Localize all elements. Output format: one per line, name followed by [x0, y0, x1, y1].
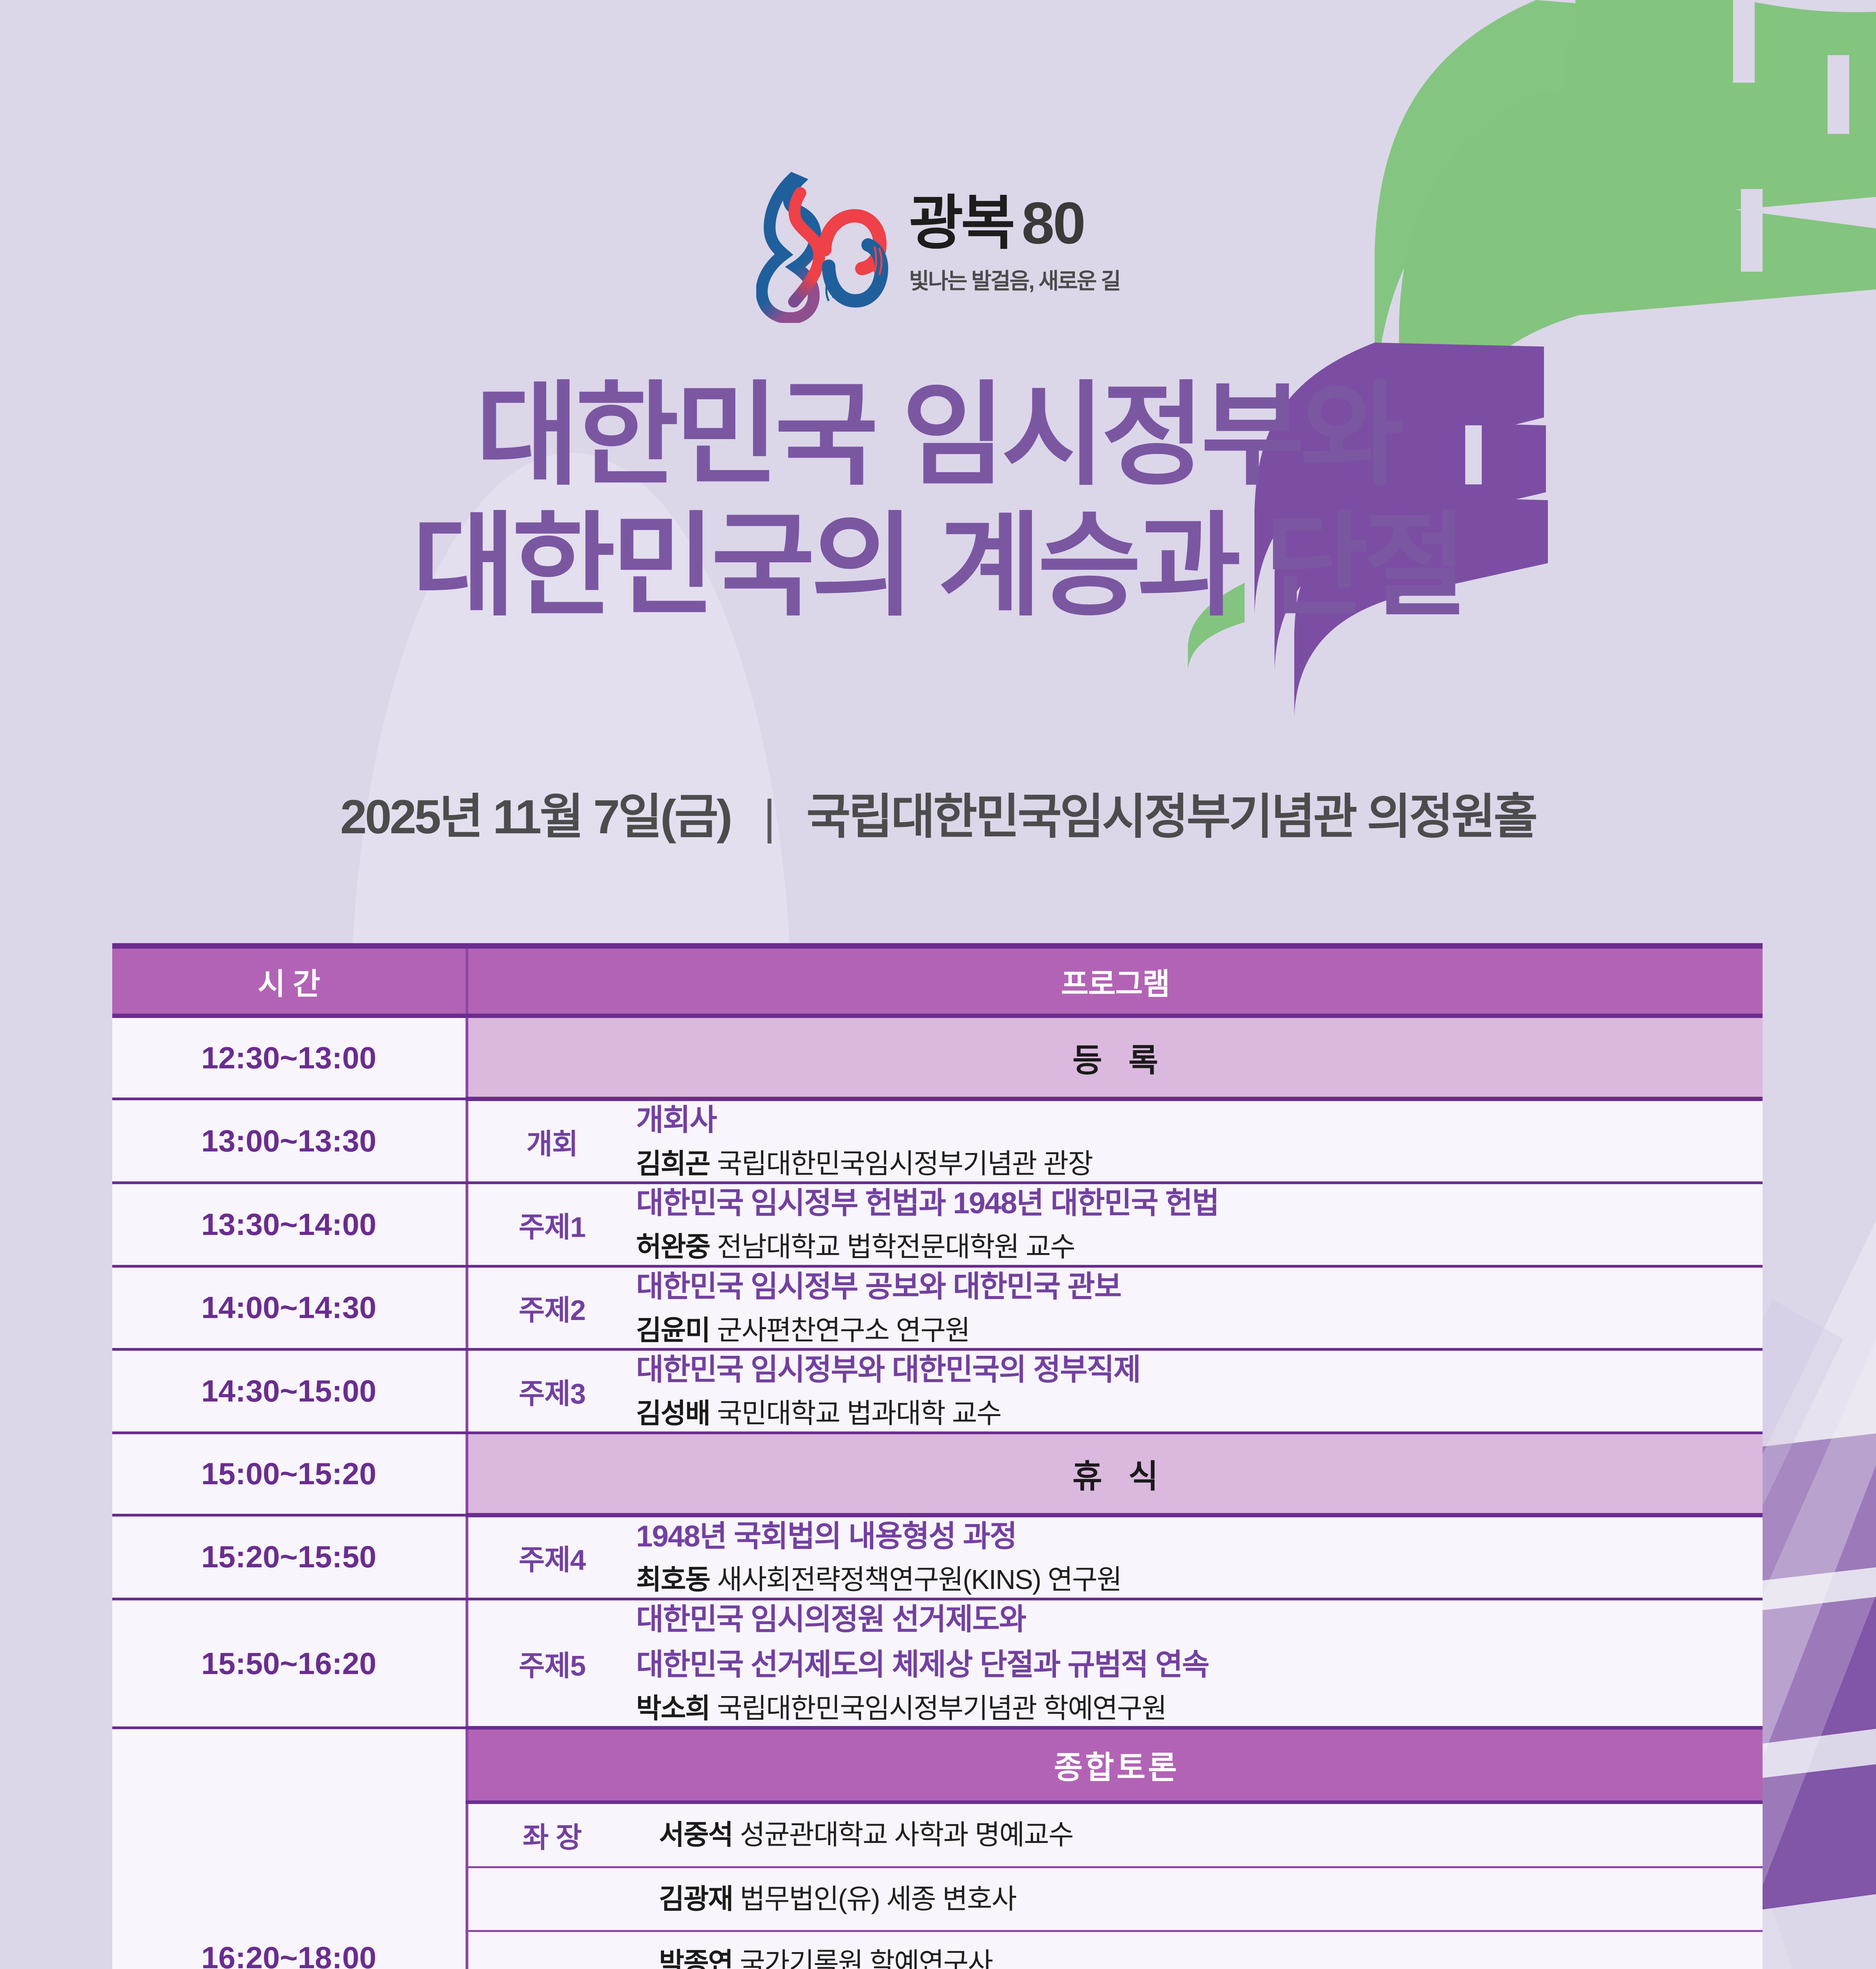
program-title-line2: 대한민국 선거제도의 체제상 단절과 규범적 연속: [636, 1646, 1763, 1685]
row-program: 대한민국 임시정부 공보와 대한민국 관보 김윤미군사편찬연구소 연구원: [636, 1266, 1763, 1349]
row-time: 14:00~14:30: [112, 1266, 467, 1349]
speaker-name: 김희곤: [636, 1148, 710, 1179]
program-speaker: 허완중전남대학교 법학전문대학원 교수: [636, 1229, 1763, 1265]
discussion-time: 16:20~18:00: [112, 1728, 467, 1969]
program-speaker: 박종연국가기록원 학예연구사: [659, 1945, 1763, 1969]
speaker-name: 최호동: [636, 1564, 710, 1595]
column-header-program: 프로그램: [467, 946, 1763, 1016]
row-time: 12:30~13:00: [112, 1016, 467, 1099]
speaker-affiliation: 새사회전략정책연구원(KINS) 연구원: [717, 1564, 1121, 1595]
event-subtitle: 2025년 11월 7일(금) | 국립대한민국임시정부기념관 의정원홀: [0, 778, 1876, 847]
speaker-affiliation: 성균관대학교 사학과 명예교수: [740, 1819, 1073, 1850]
program-speaker: 김광재법무법인(유) 세종 변호사: [659, 1882, 1763, 1917]
program-speaker: 박소희국립대한민국임시정부기념관 학예연구원: [636, 1691, 1763, 1726]
row-tag: 주제1: [467, 1183, 636, 1266]
speaker-affiliation: 국립대한민국임시정부기념관 관장: [717, 1148, 1092, 1179]
row-time: 15:50~16:20: [112, 1599, 467, 1728]
gwangbok80-emblem: 광복 80 빛나는 발걸음, 새로운 길: [0, 165, 1876, 323]
row-band-label: 등 록: [467, 1016, 1763, 1099]
row-program: 서중석성균관대학교 사학과 명예교수: [636, 1802, 1763, 1867]
row-program: 대한민국 임시정부와 대한민국의 정부직제 김성배국민대학교 법과대학 교수: [636, 1350, 1763, 1433]
program-title: 대한민국 임시정부 공보와 대한민국 관보: [636, 1268, 1763, 1307]
table-row: 12:30~13:00 등 록: [112, 1016, 1763, 1099]
row-tag: 주제2: [467, 1266, 636, 1349]
row-tag: [467, 1867, 636, 1931]
table-row: 15:20~15:50 주제4 1948년 국회법의 내용형성 과정 최호동새사…: [112, 1515, 1763, 1599]
speaker-name: 서중석: [659, 1819, 733, 1850]
subtitle-separator: |: [763, 789, 774, 844]
program-title: 1948년 국회법의 내용형성 과정: [636, 1517, 1763, 1556]
program-speaker: 김성배국민대학교 법과대학 교수: [636, 1396, 1763, 1431]
program-speaker: 김윤미군사편찬연구소 연구원: [636, 1313, 1763, 1348]
speaker-name: 박소희: [636, 1693, 710, 1724]
table-row: 15:00~15:20 휴 식: [112, 1433, 1763, 1515]
row-program: 박종연국가기록원 학예연구사: [636, 1931, 1763, 1969]
speaker-affiliation: 전남대학교 법학전문대학원 교수: [717, 1231, 1075, 1262]
row-program: 대한민국 임시정부 헌법과 1948년 대한민국 헌법 허완중전남대학교 법학전…: [636, 1183, 1763, 1266]
row-time: 15:00~15:20: [112, 1433, 467, 1515]
row-band-label: 휴 식: [467, 1433, 1763, 1515]
table-row: 14:00~14:30 주제2 대한민국 임시정부 공보와 대한민국 관보 김윤…: [112, 1266, 1763, 1349]
emblem-kr-label: 광복: [909, 193, 1013, 252]
row-time: 15:20~15:50: [112, 1515, 467, 1599]
program-speaker: 서중석성균관대학교 사학과 명예교수: [659, 1817, 1763, 1853]
speaker-name: 김광재: [659, 1884, 733, 1914]
table-header-row: 시 간 프로그램: [112, 946, 1763, 1016]
row-time: 14:30~15:00: [112, 1350, 467, 1433]
table-row: 15:50~16:20 주제5 대한민국 임시의정원 선거제도와 대한민국 선거…: [112, 1599, 1763, 1728]
speaker-affiliation: 국민대학교 법과대학 교수: [717, 1398, 1001, 1429]
table-row: 14:30~15:00 주제3 대한민국 임시정부와 대한민국의 정부직제 김성…: [112, 1350, 1763, 1433]
emblem-tagline: 빛나는 발걸음, 새로운 길: [909, 263, 1120, 295]
table-row: 13:00~13:30 개회 개회사 김희곤국립대한민국임시정부기념관 관장: [112, 1099, 1763, 1183]
page-title-line2: 대한민국의 계승과 단절: [0, 501, 1876, 632]
speaker-name: 박종연: [659, 1947, 733, 1969]
speaker-name: 김윤미: [636, 1315, 710, 1346]
speaker-affiliation: 국립대한민국임시정부기념관 학예연구원: [717, 1693, 1166, 1724]
program-title: 대한민국 임시의정원 선거제도와: [636, 1600, 1763, 1639]
program-table: 시 간 프로그램 12:30~13:00 등 록 13:00~13:30 개회 …: [112, 943, 1763, 1969]
row-tag: 좌 장: [467, 1802, 636, 1867]
table-row: 13:30~14:00 주제1 대한민국 임시정부 헌법과 1948년 대한민국…: [112, 1183, 1763, 1266]
column-header-time: 시 간: [112, 946, 467, 1016]
row-tag: 주제4: [467, 1515, 636, 1599]
speaker-name: 허완중: [636, 1231, 710, 1262]
speaker-name: 김성배: [636, 1398, 710, 1429]
discussion-band-label: 종합토론: [467, 1728, 1763, 1802]
gwangbok80-wordmark: 광복 80 빛나는 발걸음, 새로운 길: [909, 193, 1120, 295]
row-program: 1948년 국회법의 내용형성 과정 최호동새사회전략정책연구원(KINS) 연…: [636, 1515, 1763, 1599]
page-title-line1: 대한민국 임시정부와: [0, 370, 1876, 501]
speaker-affiliation: 군사편찬연구소 연구원: [717, 1315, 969, 1346]
row-tag: 개회: [467, 1099, 636, 1183]
program-speaker: 최호동새사회전략정책연구원(KINS) 연구원: [636, 1562, 1763, 1598]
row-program: 개회사 김희곤국립대한민국임시정부기념관 관장: [636, 1099, 1763, 1183]
speaker-affiliation: 국가기록원 학예연구사: [740, 1947, 992, 1969]
program-title: 개회사: [636, 1101, 1763, 1140]
program-title: 대한민국 임시정부 헌법과 1948년 대한민국 헌법: [636, 1184, 1763, 1223]
discussion-band-row: 16:20~18:00 종합토론: [112, 1728, 1763, 1802]
program-speaker: 김희곤국립대한민국임시정부기념관 관장: [636, 1146, 1763, 1182]
gwangbok80-symbol-icon: [756, 165, 890, 323]
row-tag: 주제5: [467, 1599, 636, 1728]
row-time: 13:00~13:30: [112, 1099, 467, 1183]
row-program: 대한민국 임시의정원 선거제도와 대한민국 선거제도의 체제상 단절과 규범적 …: [636, 1599, 1763, 1728]
event-venue: 국립대한민국임시정부기념관 의정원홀: [806, 790, 1536, 844]
poster-root: 광복 80 빛나는 발걸음, 새로운 길 대한민국 임시정부와 대한민국의 계승…: [0, 0, 1876, 1969]
event-date: 2025년 11월 7일(금): [340, 790, 731, 844]
program-title: 대한민국 임시정부와 대한민국의 정부직제: [636, 1351, 1763, 1390]
row-tag: [467, 1931, 636, 1969]
page-title: 대한민국 임시정부와 대한민국의 계승과 단절: [0, 370, 1876, 632]
row-tag: 주제3: [467, 1350, 636, 1433]
row-time: 13:30~14:00: [112, 1183, 467, 1266]
emblem-number: 80: [1022, 193, 1084, 252]
row-program: 김광재법무법인(유) 세종 변호사: [636, 1867, 1763, 1931]
speaker-affiliation: 법무법인(유) 세종 변호사: [740, 1884, 1016, 1914]
